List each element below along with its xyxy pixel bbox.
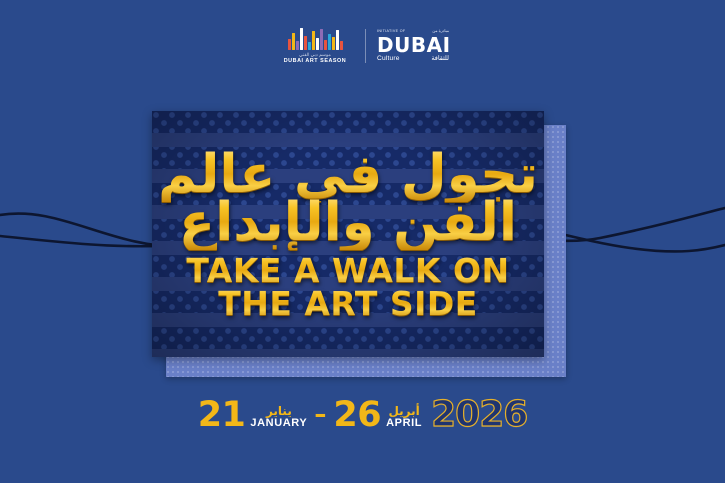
culture-label-en: Culture bbox=[377, 56, 400, 63]
start-month-en: JANUARY bbox=[250, 418, 307, 430]
dubai-art-season-label-en: DUBAI ART SEASON bbox=[284, 59, 347, 64]
dubai-wordmark: DUBAI bbox=[377, 35, 451, 55]
skyline-bar bbox=[324, 40, 327, 50]
event-year: 2026 bbox=[431, 398, 527, 431]
skyline-bar bbox=[336, 30, 339, 50]
end-month-ar: أبريل bbox=[388, 405, 419, 418]
headline-english-line-1: TAKE A WALK ON bbox=[186, 254, 509, 288]
culture-label-ar: للثقافة bbox=[431, 56, 449, 62]
skyline-bar bbox=[328, 34, 331, 50]
start-day: 21 bbox=[198, 399, 246, 431]
skyline-bar bbox=[312, 31, 315, 50]
start-date: 21 يناير JANUARY bbox=[198, 399, 308, 431]
banner-panel: تجول في عالم الفن والإبداع TAKE A WALK O… bbox=[152, 111, 544, 357]
end-date: 26 أبريل APRIL bbox=[333, 399, 422, 431]
skyline-bar bbox=[332, 37, 335, 50]
skyline-bar bbox=[308, 42, 311, 50]
headline-banner: تجول في عالم الفن والإبداع TAKE A WALK O… bbox=[152, 111, 556, 369]
skyline-bar bbox=[288, 39, 291, 50]
dubai-culture-logo[interactable]: INITIATIVE OF مبادرة من DUBAI Culture لل… bbox=[377, 29, 449, 62]
dubai-art-season-logo[interactable]: موسم دبي الفني DUBAI ART SEASON bbox=[276, 28, 354, 64]
city-skyline-bars-icon bbox=[288, 28, 343, 50]
event-date-range: 21 يناير JANUARY – 26 أبريل APRIL 2026 bbox=[0, 398, 725, 431]
skyline-bar bbox=[304, 36, 307, 50]
headline-arabic-line-2: الفن والإبداع bbox=[179, 196, 517, 250]
poster-canvas: موسم دبي الفني DUBAI ART SEASON INITIATI… bbox=[0, 0, 725, 483]
skyline-bar bbox=[316, 38, 319, 50]
end-day: 26 bbox=[333, 399, 381, 431]
skyline-bar bbox=[340, 41, 343, 50]
logo-divider bbox=[365, 29, 366, 63]
headline-english-line-2: THE ART SIDE bbox=[218, 287, 478, 321]
skyline-bar bbox=[320, 29, 323, 50]
header-logos: موسم دبي الفني DUBAI ART SEASON INITIATI… bbox=[0, 28, 725, 64]
start-month-ar: يناير bbox=[266, 405, 292, 418]
date-range-separator: – bbox=[307, 402, 333, 431]
skyline-bar bbox=[296, 41, 299, 50]
dubai-art-season-label-ar: موسم دبي الفني bbox=[299, 53, 331, 58]
end-month-en: APRIL bbox=[386, 418, 422, 430]
skyline-bar bbox=[292, 33, 295, 50]
skyline-bar bbox=[300, 28, 303, 50]
